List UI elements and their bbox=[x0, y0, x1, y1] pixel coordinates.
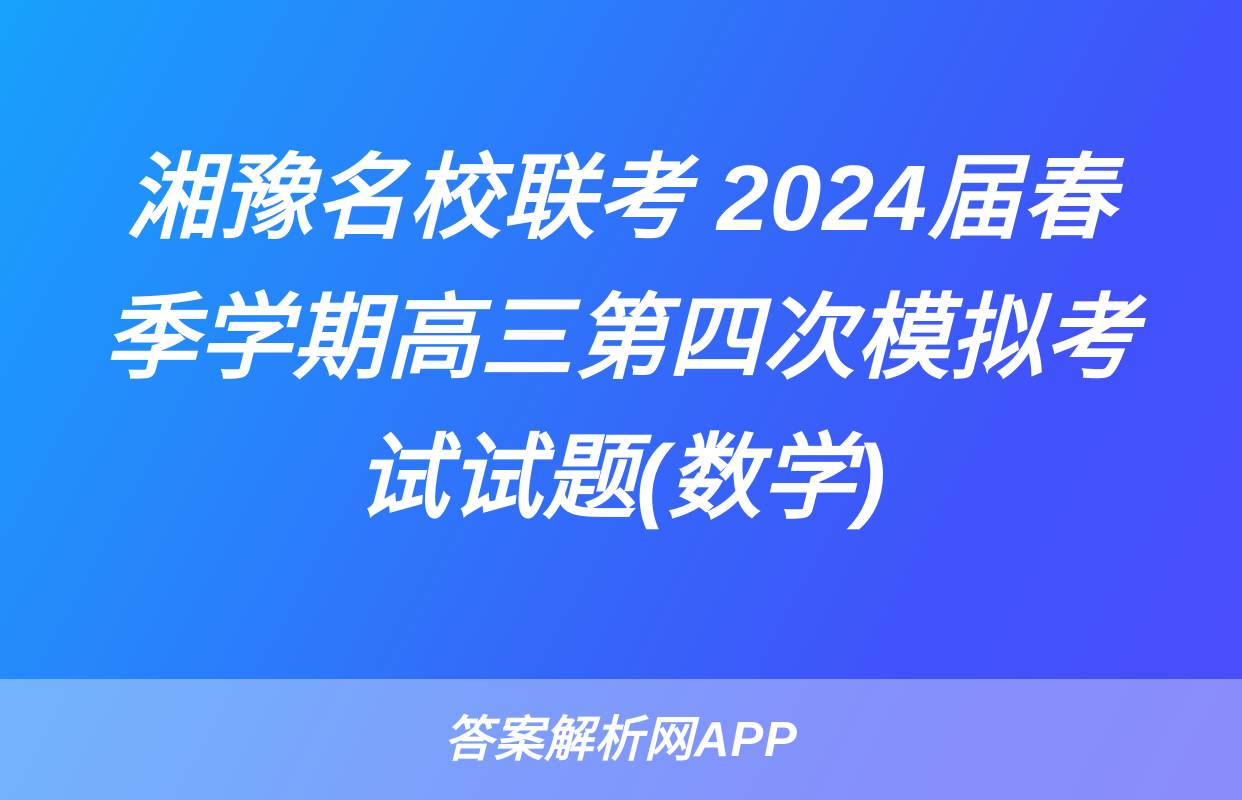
title-line-1: 湘豫名校联考 2024届春 bbox=[70, 128, 1172, 268]
title-line-3: 试试题(数学) bbox=[70, 408, 1172, 548]
app-brand-watermark: 答案解析网APP bbox=[444, 716, 798, 765]
hero-section: 湘豫名校联考 2024届春 季学期高三第四次模拟考 试试题(数学) bbox=[0, 0, 1242, 679]
title-line-2: 季学期高三第四次模拟考 bbox=[70, 268, 1172, 408]
page-title: 湘豫名校联考 2024届春 季学期高三第四次模拟考 试试题(数学) bbox=[70, 128, 1172, 548]
footer-band: 答案解析网APP bbox=[0, 679, 1242, 800]
exam-cover-card: 湘豫名校联考 2024届春 季学期高三第四次模拟考 试试题(数学) 答案解析网A… bbox=[0, 0, 1242, 800]
